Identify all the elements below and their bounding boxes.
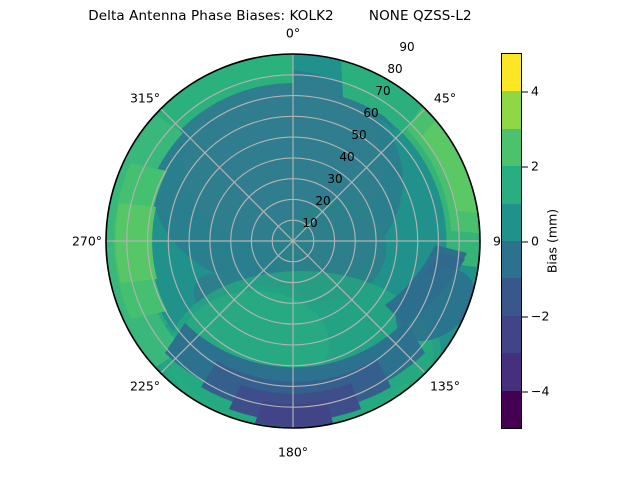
- colorbar-band-9: [502, 391, 521, 428]
- colorbar[interactable]: [501, 53, 522, 429]
- colorbar-tick-neg-2: −2: [522, 309, 549, 324]
- radial-label-50: 50: [351, 128, 366, 142]
- azimuth-label-180: 180°: [278, 445, 308, 460]
- tick-dash: [522, 392, 528, 393]
- colorbar-tick-2: 2: [522, 158, 539, 173]
- colorbar-tick-4: 4: [522, 83, 539, 98]
- colorbar-band-7: [502, 316, 521, 353]
- azimuth-label-225: 225°: [130, 379, 160, 394]
- figure-title: Delta Antenna Phase Biases: KOLK2 NONE Q…: [0, 8, 560, 24]
- azimuth-label-0: 0°: [286, 26, 300, 41]
- azimuth-label-270: 270°: [72, 234, 102, 249]
- radial-label-20: 20: [315, 194, 330, 208]
- colorbar-tick-label: 4: [531, 83, 539, 98]
- colorbar-band-1: [502, 91, 521, 128]
- radial-label-60: 60: [363, 106, 378, 120]
- tick-dash: [522, 91, 528, 92]
- colorbar-tick-label: 0: [531, 234, 539, 249]
- colorbar-band-3: [502, 166, 521, 203]
- tick-dash: [522, 317, 528, 318]
- radial-label-90: 90: [399, 40, 414, 54]
- azimuth-label-45: 45°: [434, 91, 456, 106]
- polar-axes[interactable]: 0° 45° 90 135° 180° 225° 270° 315° 10 20…: [105, 53, 481, 429]
- radial-label-70: 70: [375, 84, 390, 98]
- polar-plot-svg: [105, 53, 481, 429]
- colorbar-band-8: [502, 353, 521, 390]
- tick-dash: [522, 241, 528, 242]
- colorbar-tick-0: 0: [522, 234, 539, 249]
- colorbar-tick-label: −4: [531, 384, 549, 399]
- polar-grid-spokes: [106, 54, 480, 428]
- colorbar-band-6: [502, 278, 521, 315]
- radial-label-40: 40: [339, 150, 354, 164]
- colorbar-tick-label: −2: [531, 309, 549, 324]
- figure-canvas: Delta Antenna Phase Biases: KOLK2 NONE Q…: [0, 0, 640, 480]
- colorbar-tick-neg-4: −4: [522, 384, 549, 399]
- colorbar-band-5: [502, 241, 521, 278]
- colorbar-band-4: [502, 204, 521, 241]
- colorbar-axis-label: Bias (mm): [545, 209, 560, 273]
- azimuth-label-315: 315°: [130, 91, 160, 106]
- radial-label-80: 80: [387, 62, 402, 76]
- colorbar-tick-label: 2: [531, 158, 539, 173]
- radial-label-10: 10: [302, 216, 317, 230]
- colorbar-band-2: [502, 129, 521, 166]
- tick-dash: [522, 166, 528, 167]
- radial-label-30: 30: [327, 172, 342, 186]
- colorbar-band-0: [502, 54, 521, 91]
- azimuth-label-135: 135°: [430, 379, 460, 394]
